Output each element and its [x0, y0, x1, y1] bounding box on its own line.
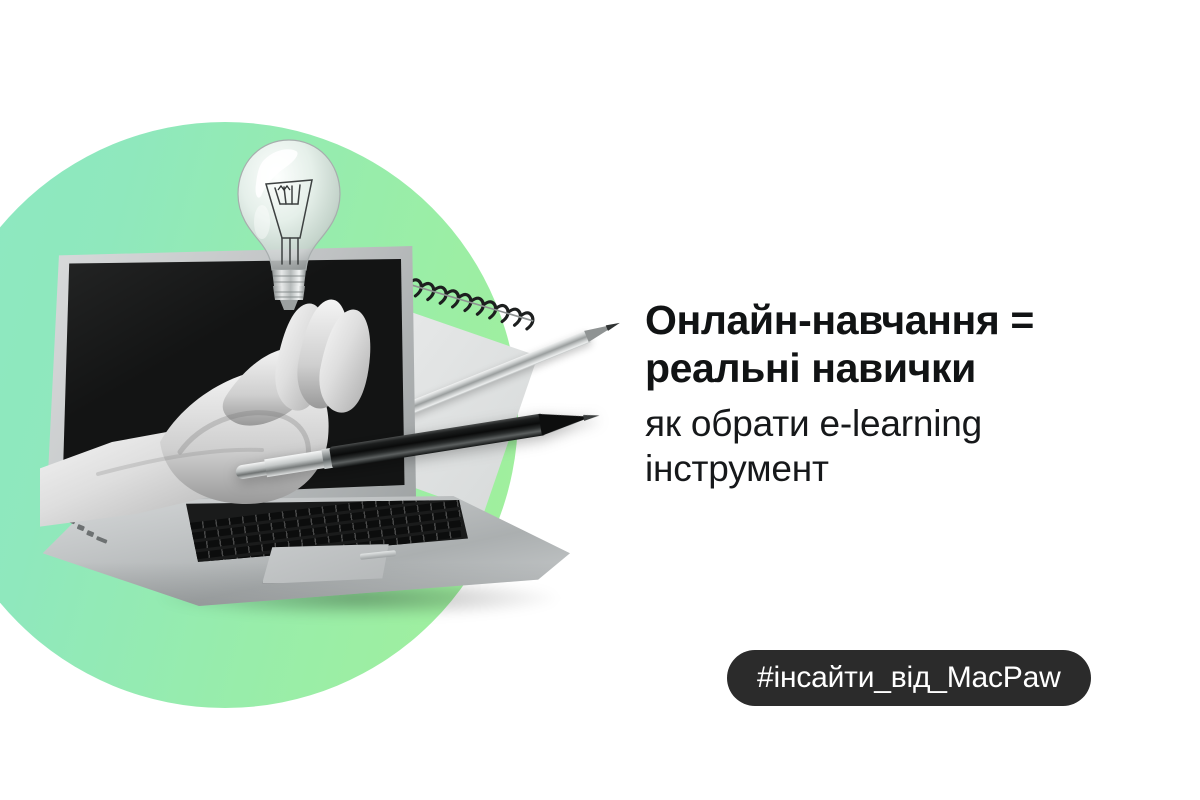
text-column: Онлайн-навчання = реальні навички як обр… [645, 296, 1115, 491]
headline: Онлайн-навчання = реальні навички [645, 296, 1115, 393]
collage-artwork [0, 0, 640, 800]
social-card-canvas: Онлайн-навчання = реальні навички як обр… [0, 0, 1200, 800]
light-bulb-icon [228, 136, 350, 316]
laptop-base [40, 496, 570, 606]
hashtag-badge-label: #інсайти_від_MacPaw [757, 661, 1061, 695]
laptop-trackpad [262, 544, 390, 584]
pen-nib [583, 412, 600, 420]
subheadline: як обрати e-learning інструмент [645, 401, 1115, 491]
hashtag-badge[interactable]: #інсайти_від_MacPaw [727, 650, 1091, 706]
